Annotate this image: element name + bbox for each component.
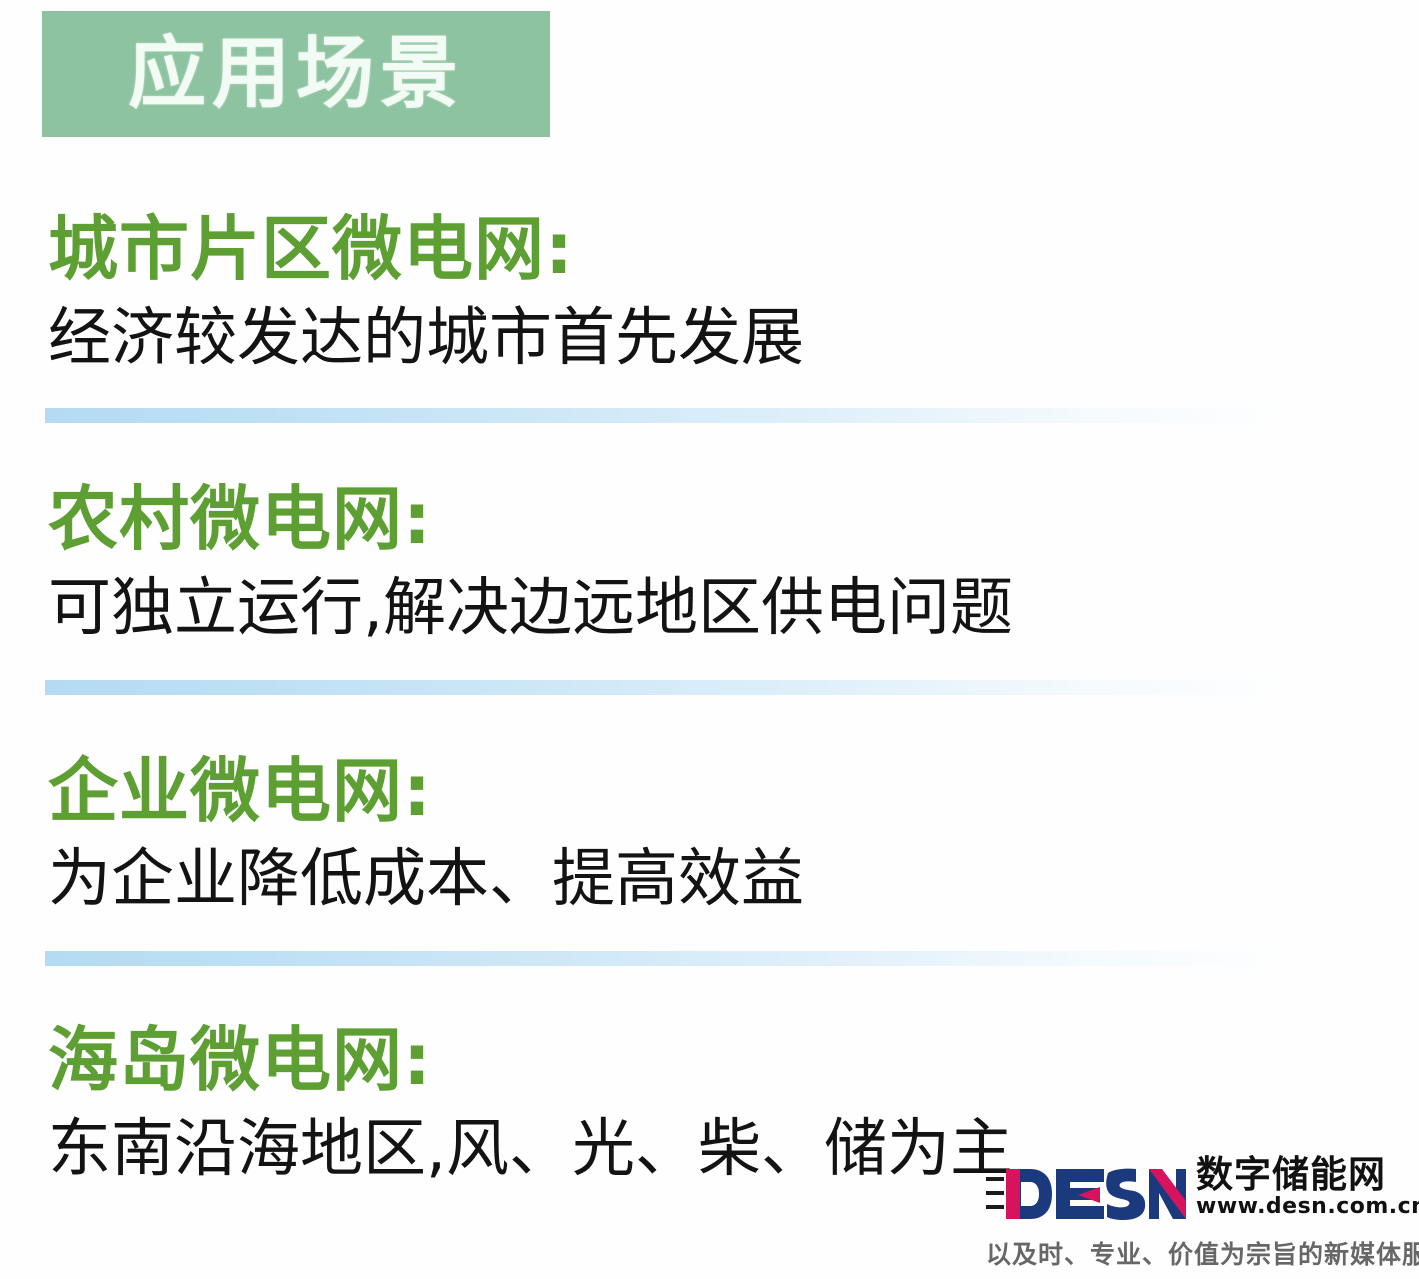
scenario-heading: 海岛微电网: [0, 966, 1419, 1097]
scenario-item-island: 海岛微电网: 东南沿海地区,风、光、柴、储为主 [0, 966, 1419, 1183]
watermark-tagline: 以及时、专业、价值为宗旨的新媒体服务平台 [986, 1235, 1419, 1271]
scenario-heading: 企业微电网: [0, 695, 1419, 828]
scenario-description: 经济较发达的城市首先发展 [0, 286, 1419, 372]
divider-3 [45, 951, 1285, 966]
watermark-url: www.desn.com.cn [1196, 1193, 1419, 1221]
scenario-heading: 农村微电网: [0, 423, 1419, 556]
scenario-description: 可独立运行,解决边远地区供电问题 [0, 556, 1419, 642]
section-header-banner: 应用场景 [42, 11, 550, 137]
divider-2 [45, 680, 1285, 695]
scenario-item-rural: 农村微电网: 可独立运行,解决边远地区供电问题 [0, 423, 1419, 642]
infographic-page: 应用场景 城市片区微电网: 经济较发达的城市首先发展 农村微电网: 可独立运行,… [0, 0, 1419, 1279]
scenario-list: 城市片区微电网: 经济较发达的城市首先发展 农村微电网: 可独立运行,解决边远地… [0, 137, 1419, 1183]
scenario-description: 为企业降低成本、提高效益 [0, 827, 1419, 913]
scenario-heading: 城市片区微电网: [0, 137, 1419, 286]
page-title: 应用场景 [128, 35, 464, 113]
scenario-item-urban: 城市片区微电网: 经济较发达的城市首先发展 [0, 137, 1419, 372]
scenario-item-enterprise: 企业微电网: 为企业降低成本、提高效益 [0, 695, 1419, 914]
scenario-description: 东南沿海地区,风、光、柴、储为主 [0, 1097, 1419, 1183]
divider-1 [45, 408, 1285, 423]
